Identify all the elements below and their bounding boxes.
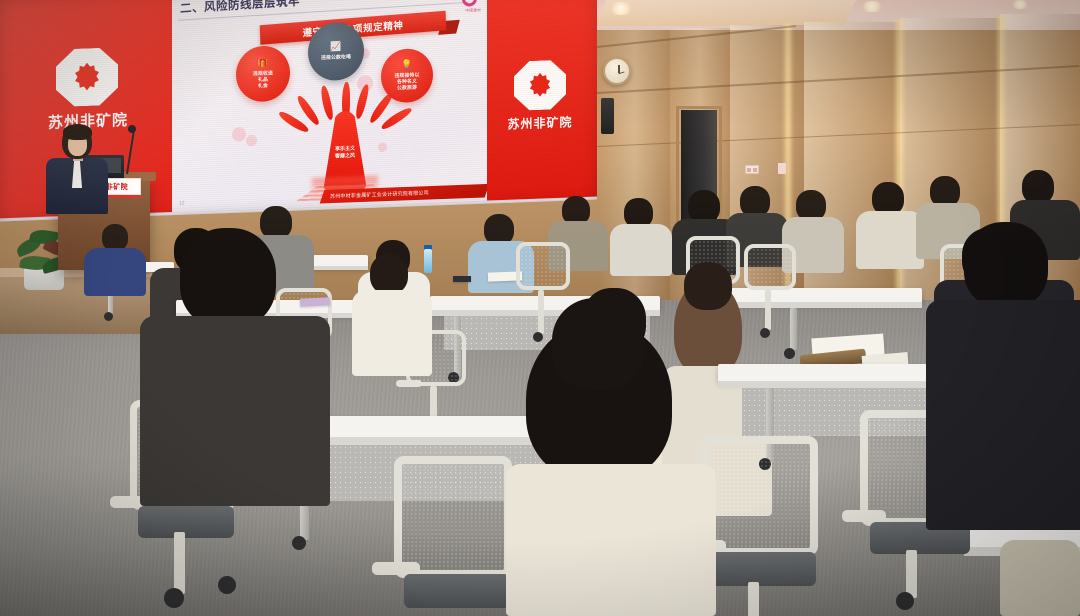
table-caster <box>104 312 113 321</box>
chair-leg <box>174 532 185 594</box>
corner-mark-label: 中国建材 <box>465 8 481 14</box>
slide-bubble-right: 💡 违规接待以 各种名义 公款旅游 <box>381 48 433 103</box>
wall-power-outlet <box>745 165 759 174</box>
chair-backrest <box>516 242 570 290</box>
torso <box>140 316 330 506</box>
torso <box>856 211 924 269</box>
chair-caster <box>164 588 184 608</box>
head <box>1022 170 1054 204</box>
slide-bubble-right-label: 违规接待以 各种名义 公款旅游 <box>395 73 420 92</box>
gift-box-icon: 🎁 <box>257 58 268 70</box>
head <box>370 254 408 294</box>
slide-bubble-left: 🎁 违规收送 礼品 礼金 <box>236 45 290 103</box>
chair-armrest <box>396 380 422 387</box>
tree-branch <box>354 84 370 120</box>
decor-dot <box>246 135 257 147</box>
china-building-materials-logo <box>462 0 477 7</box>
slide-tree-graphic: 享乐主义 奢靡之风 <box>290 80 400 197</box>
decor-dot <box>232 127 246 142</box>
slide-bubble-left-label: 违规收送 礼品 礼金 <box>253 71 273 90</box>
chair-leg <box>538 290 544 334</box>
downlight <box>860 1 884 12</box>
slide-bubble-middle-label: 违规公款吃喝 <box>321 55 351 62</box>
downlight <box>1010 0 1030 9</box>
chair-armrest <box>842 510 886 522</box>
chair-caster <box>218 576 236 594</box>
meeting-room-photo: 苏州非矿院 二、风险防线层层筑牢 遵守中央八项规定精神 中国建材 <box>0 0 1080 616</box>
torso <box>926 300 1080 530</box>
tree-branch <box>319 85 335 121</box>
chair-backrest <box>744 244 796 290</box>
head <box>964 222 1048 308</box>
chair-backrest <box>700 436 818 556</box>
led-right-wordmark: 苏州非矿院 <box>500 113 580 133</box>
torso <box>610 224 672 276</box>
light-switch-plate[interactable] <box>778 163 786 174</box>
slide-page-number: 12 <box>179 200 185 206</box>
table-leg <box>790 308 797 350</box>
water-bottle <box>424 249 432 273</box>
table-edge <box>712 302 922 308</box>
head <box>180 228 276 328</box>
chair-seat <box>404 574 510 608</box>
training-table <box>712 288 922 303</box>
torso <box>84 248 146 296</box>
torso <box>1000 540 1080 616</box>
smartphone <box>453 276 471 282</box>
tree-label: 享乐主义 奢靡之风 <box>315 145 375 162</box>
table-caster <box>784 348 795 359</box>
chair-caster <box>533 332 543 342</box>
head <box>684 262 732 310</box>
table-caster <box>292 536 306 550</box>
chair-leg <box>765 290 771 330</box>
chair-leg <box>906 550 917 598</box>
handout-paper <box>300 297 330 307</box>
head <box>102 224 128 251</box>
chair-seat <box>710 552 816 586</box>
chair-backrest <box>394 456 512 578</box>
presenter-fringe <box>63 124 92 140</box>
presentation-slide: 二、风险防线层层筑牢 遵守中央八项规定精神 中国建材 <box>172 0 487 212</box>
slide-footer-text: 苏州中材非金属矿工业设计研究院有限公司 <box>330 189 429 200</box>
wall-speaker <box>601 98 614 134</box>
chair-leg <box>748 582 759 616</box>
torso <box>506 464 716 616</box>
chair-seat <box>138 506 234 538</box>
bar-chart-icon: 📈 <box>330 41 341 53</box>
head <box>552 298 644 390</box>
chair-caster <box>896 592 914 610</box>
torso <box>352 290 432 376</box>
slide-bubble-middle: 📈 违规公款吃喝 <box>308 22 364 82</box>
microphone-icon <box>128 125 136 133</box>
lightbulb-icon: 💡 <box>401 59 412 71</box>
wall-clock <box>603 57 631 85</box>
chair-caster <box>760 328 770 338</box>
downlight <box>608 2 634 15</box>
